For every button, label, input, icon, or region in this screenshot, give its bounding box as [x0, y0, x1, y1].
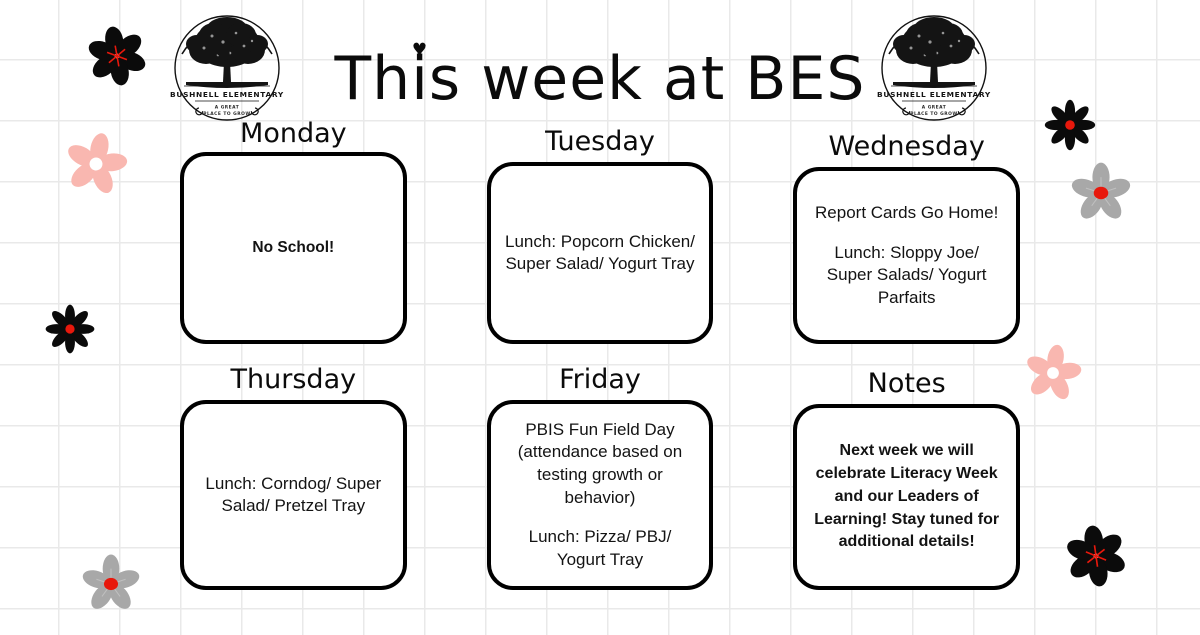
day-card-text-wednesday-1: Report Cards Go Home!	[815, 202, 998, 225]
day-card-friday: PBIS Fun Field Day (attendance based on …	[487, 400, 714, 590]
calendar-cell-friday: FridayPBIS Fun Field Day (attendance bas…	[487, 366, 714, 590]
day-card-tuesday: Lunch: Popcorn Chicken/ Super Salad/ Yog…	[487, 162, 714, 344]
page-title-suffix: s week at BES	[429, 44, 866, 114]
day-card-text-monday-1: No School!	[252, 238, 334, 259]
page-title: Th♥is week at BES	[0, 44, 1200, 114]
day-card-wednesday: Report Cards Go Home!Lunch: Sloppy Joe/ …	[793, 167, 1020, 344]
heart-icon: ♥	[412, 42, 428, 59]
day-card-text-thursday-1: Lunch: Corndog/ Super Salad/ Pretzel Tra…	[198, 473, 389, 518]
day-heading-friday: Friday	[559, 366, 641, 394]
flower-black-daisy-left	[41, 300, 99, 358]
day-card-notes: Next week we will celebrate Literacy Wee…	[793, 404, 1020, 590]
page-title-dotted-i: ♥i	[411, 44, 429, 114]
flower-gray-five-petal-bottomleft	[79, 552, 143, 616]
flower-gray-five-petal-right	[1068, 160, 1134, 226]
weekly-calendar-grid: MondayNo School!TuesdayLunch: Popcorn Ch…	[180, 120, 1020, 590]
day-heading-thursday: Thursday	[231, 366, 357, 394]
calendar-cell-thursday: ThursdayLunch: Corndog/ Super Salad/ Pre…	[180, 366, 407, 590]
day-heading-tuesday: Tuesday	[545, 128, 655, 156]
calendar-cell-monday: MondayNo School!	[180, 120, 407, 344]
day-card-thursday: Lunch: Corndog/ Super Salad/ Pretzel Tra…	[180, 400, 407, 590]
poster-canvas: BUSHNELL ELEMENTARY A GREAT PLACE TO GRO…	[0, 0, 1200, 635]
day-heading-monday: Monday	[240, 120, 347, 148]
day-card-text-wednesday-2: Lunch: Sloppy Joe/ Super Salads/ Yogurt …	[811, 242, 1002, 310]
calendar-cell-tuesday: TuesdayLunch: Popcorn Chicken/ Super Sal…	[487, 120, 714, 344]
day-heading-notes: Notes	[868, 370, 946, 398]
calendar-cell-wednesday: WednesdayReport Cards Go Home!Lunch: Slo…	[793, 120, 1020, 344]
day-card-text-tuesday-1: Lunch: Popcorn Chicken/ Super Salad/ Yog…	[505, 231, 696, 276]
day-card-text-friday-2: Lunch: Pizza/ PBJ/ Yogurt Tray	[505, 526, 696, 571]
calendar-cell-notes: NotesNext week we will celebrate Literac…	[793, 366, 1020, 590]
flower-black-six-petal-bottomright	[1058, 518, 1135, 595]
flower-pink-five-petal-left	[56, 124, 137, 205]
day-heading-wednesday: Wednesday	[829, 133, 985, 161]
page-title-prefix: Th	[335, 44, 412, 114]
flower-pink-five-petal-right	[1017, 337, 1089, 409]
day-card-monday: No School!	[180, 152, 407, 344]
day-card-text-friday-1: PBIS Fun Field Day (attendance based on …	[505, 419, 696, 509]
day-card-text-notes-1: Next week we will celebrate Literacy Wee…	[811, 440, 1002, 554]
